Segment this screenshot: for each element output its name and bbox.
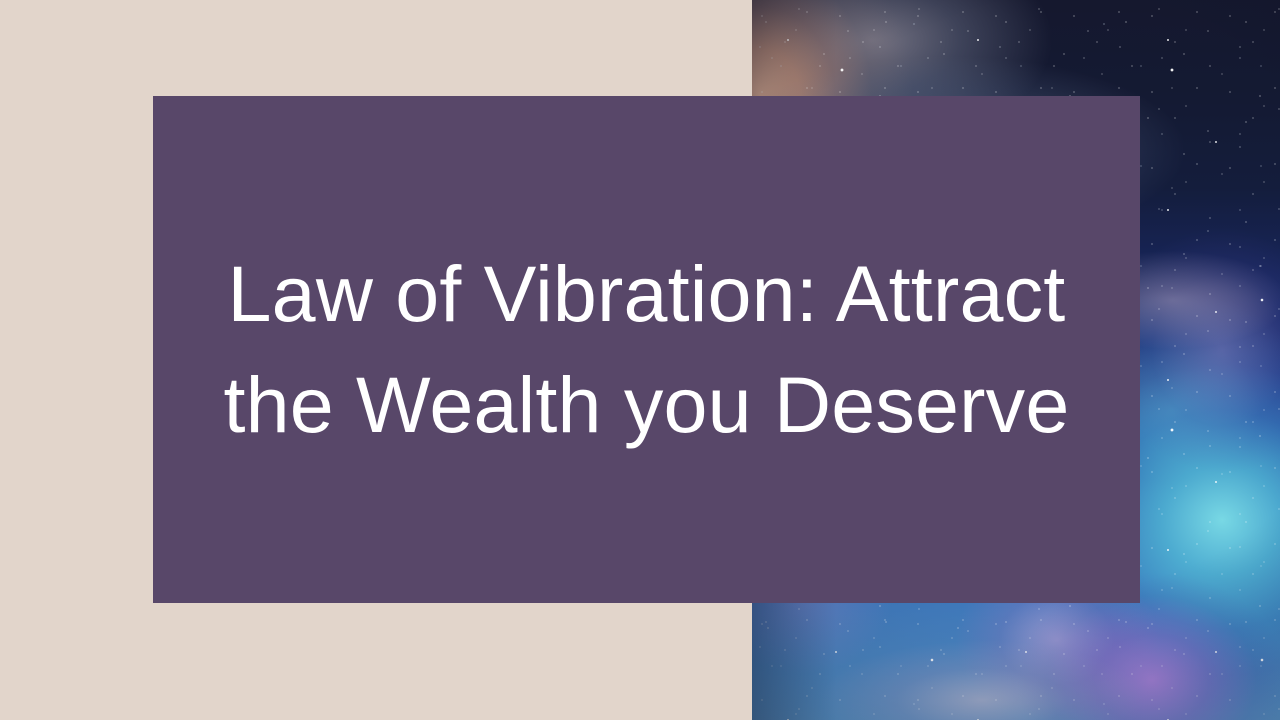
title-card: Law of Vibration: Attract the Wealth you… [153,96,1140,603]
presentation-slide: Law of Vibration: Attract the Wealth you… [0,0,1280,720]
slide-title: Law of Vibration: Attract the Wealth you… [223,239,1069,460]
